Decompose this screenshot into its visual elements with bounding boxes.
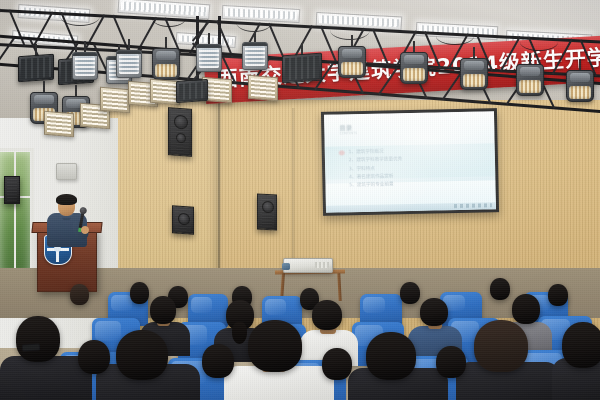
ceiling-table-projector [283,258,333,273]
window-with-foliage [0,152,30,276]
audience-head [130,282,149,304]
par-can-light [338,46,366,78]
auditorium-photo: 西南交通大学建筑学院2014级新生开学典 目录 CONTENTS 1、建筑学院概… [0,0,600,400]
audience-head [248,320,302,372]
fresnel-spot-light [242,42,268,70]
audience-head [474,320,528,372]
audience-head [116,330,168,380]
audience-head [512,294,540,324]
audience-head [490,278,510,300]
audience-head [16,316,60,362]
audience-head [322,348,352,380]
fresnel-spot-light [196,44,222,72]
stage-flood-light [282,54,322,82]
audience-head [562,322,600,368]
audience-ponytail [232,322,247,344]
wall-speaker-vent [56,163,77,180]
cyclorama-flood-light [44,112,74,136]
audience-head [202,344,234,378]
line-array-speaker [172,205,194,235]
speaker-at-podium [44,196,90,246]
stage-flood-light [176,80,208,102]
projection-screen-surface: 目录 CONTENTS 1、建筑学院概况 2、建筑学科教学质量优秀 3、学科特点… [324,111,496,213]
par-can-light [566,70,594,102]
projection-screen: 目录 CONTENTS 1、建筑学院概况 2、建筑学科教学质量优秀 3、学科特点… [321,108,499,216]
slide-bullet-marker [338,151,344,156]
fresnel-spot-light [116,50,142,78]
stage-flood-light [18,55,54,81]
line-array-speaker [168,107,192,157]
par-can-light [516,64,544,96]
audience-head [400,282,420,304]
audience-head [366,332,416,380]
slide-contents-list: 1、建筑学院概况 2、建筑学科教学质量优秀 3、学科特点 4、著名建筑作品赏析 … [349,148,403,190]
par-can-light [460,58,488,90]
slide-subtitle: CONTENTS [340,131,358,135]
fresnel-spot-light [72,52,98,80]
audience-head [436,346,466,378]
slide-list-item: 5、建筑学的专业前景 [349,181,403,190]
line-array-speaker [257,193,277,230]
audience-head [548,284,568,306]
par-can-light [400,52,428,84]
audience-head [420,298,448,326]
audience-glasses [22,343,40,351]
cyclorama-flood-light [248,76,278,100]
par-can-light [152,48,180,80]
audience-head [78,340,110,374]
audience-head [150,296,176,324]
speaker-hand [81,226,89,234]
audience-head [312,300,342,330]
line-array-speaker [4,176,20,204]
cyclorama-flood-light [100,88,130,112]
speaker-hair [56,194,77,205]
audience-head [70,284,89,305]
